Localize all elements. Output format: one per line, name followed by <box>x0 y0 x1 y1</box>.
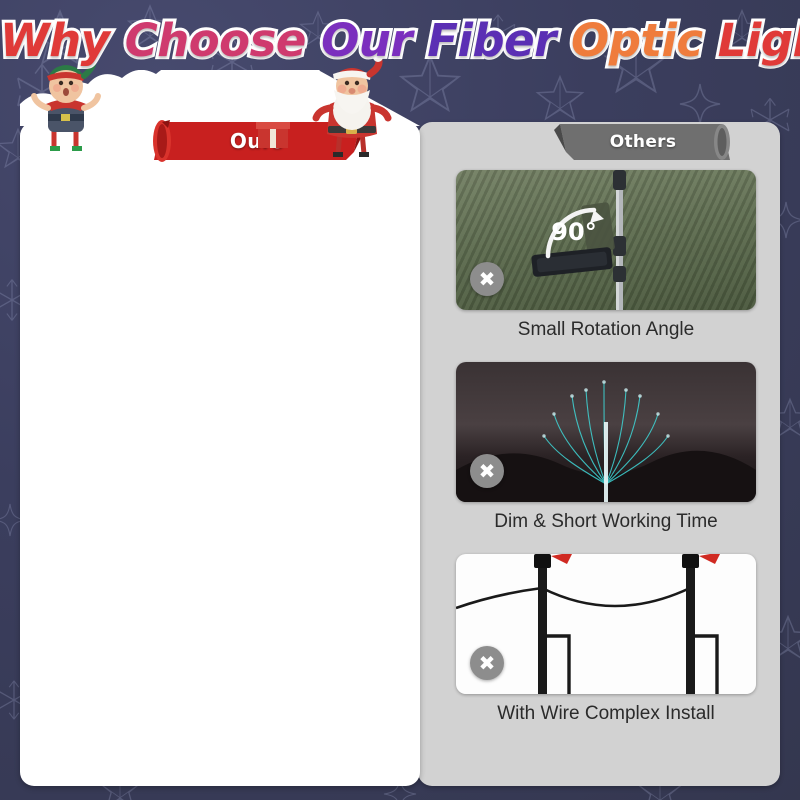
wired-stakes-illustration <box>456 554 756 694</box>
close-icon: ✖ <box>470 454 504 488</box>
close-icon: ✖ <box>470 262 504 296</box>
list-item[interactable]: ✖ With Wire Complex Install <box>456 554 756 738</box>
others-column: 90° ✖ Small Rotation Angle <box>456 170 756 746</box>
ours-panel <box>20 122 420 786</box>
title-word-optic: Optic <box>571 14 703 67</box>
title-word-choose: Choose <box>125 14 306 67</box>
others-thumb-dim: ✖ <box>456 362 756 502</box>
gift-box-icon <box>256 116 290 148</box>
banner-others-label: Others <box>550 122 736 162</box>
list-item[interactable]: 90° ✖ Small Rotation Angle <box>456 170 756 354</box>
title-word-fiber: Fiber <box>427 14 556 67</box>
banner-others: Others <box>550 122 736 162</box>
others-thumb-rotation: 90° ✖ <box>456 170 756 310</box>
dim-teal-light-illustration <box>456 362 756 502</box>
others-thumb-wired: ✖ <box>456 554 756 694</box>
title-word-lights: Lights <box>718 14 800 67</box>
list-item[interactable]: ✖ Dim & Short Working Time <box>456 362 756 546</box>
others-caption-3: With Wire Complex Install <box>456 694 756 738</box>
dull-light-illustration: 90° <box>456 170 756 310</box>
title-word-our: Our <box>321 14 412 67</box>
close-icon: ✖ <box>470 646 504 680</box>
others-caption-1: Small Rotation Angle <box>456 310 756 354</box>
page-title: Why Choose Our Fiber Optic Lights <box>0 14 800 70</box>
title-word-why: Why <box>0 14 110 67</box>
rotation-angle-value: 90° <box>551 218 596 246</box>
others-caption-2: Dim & Short Working Time <box>456 502 756 546</box>
